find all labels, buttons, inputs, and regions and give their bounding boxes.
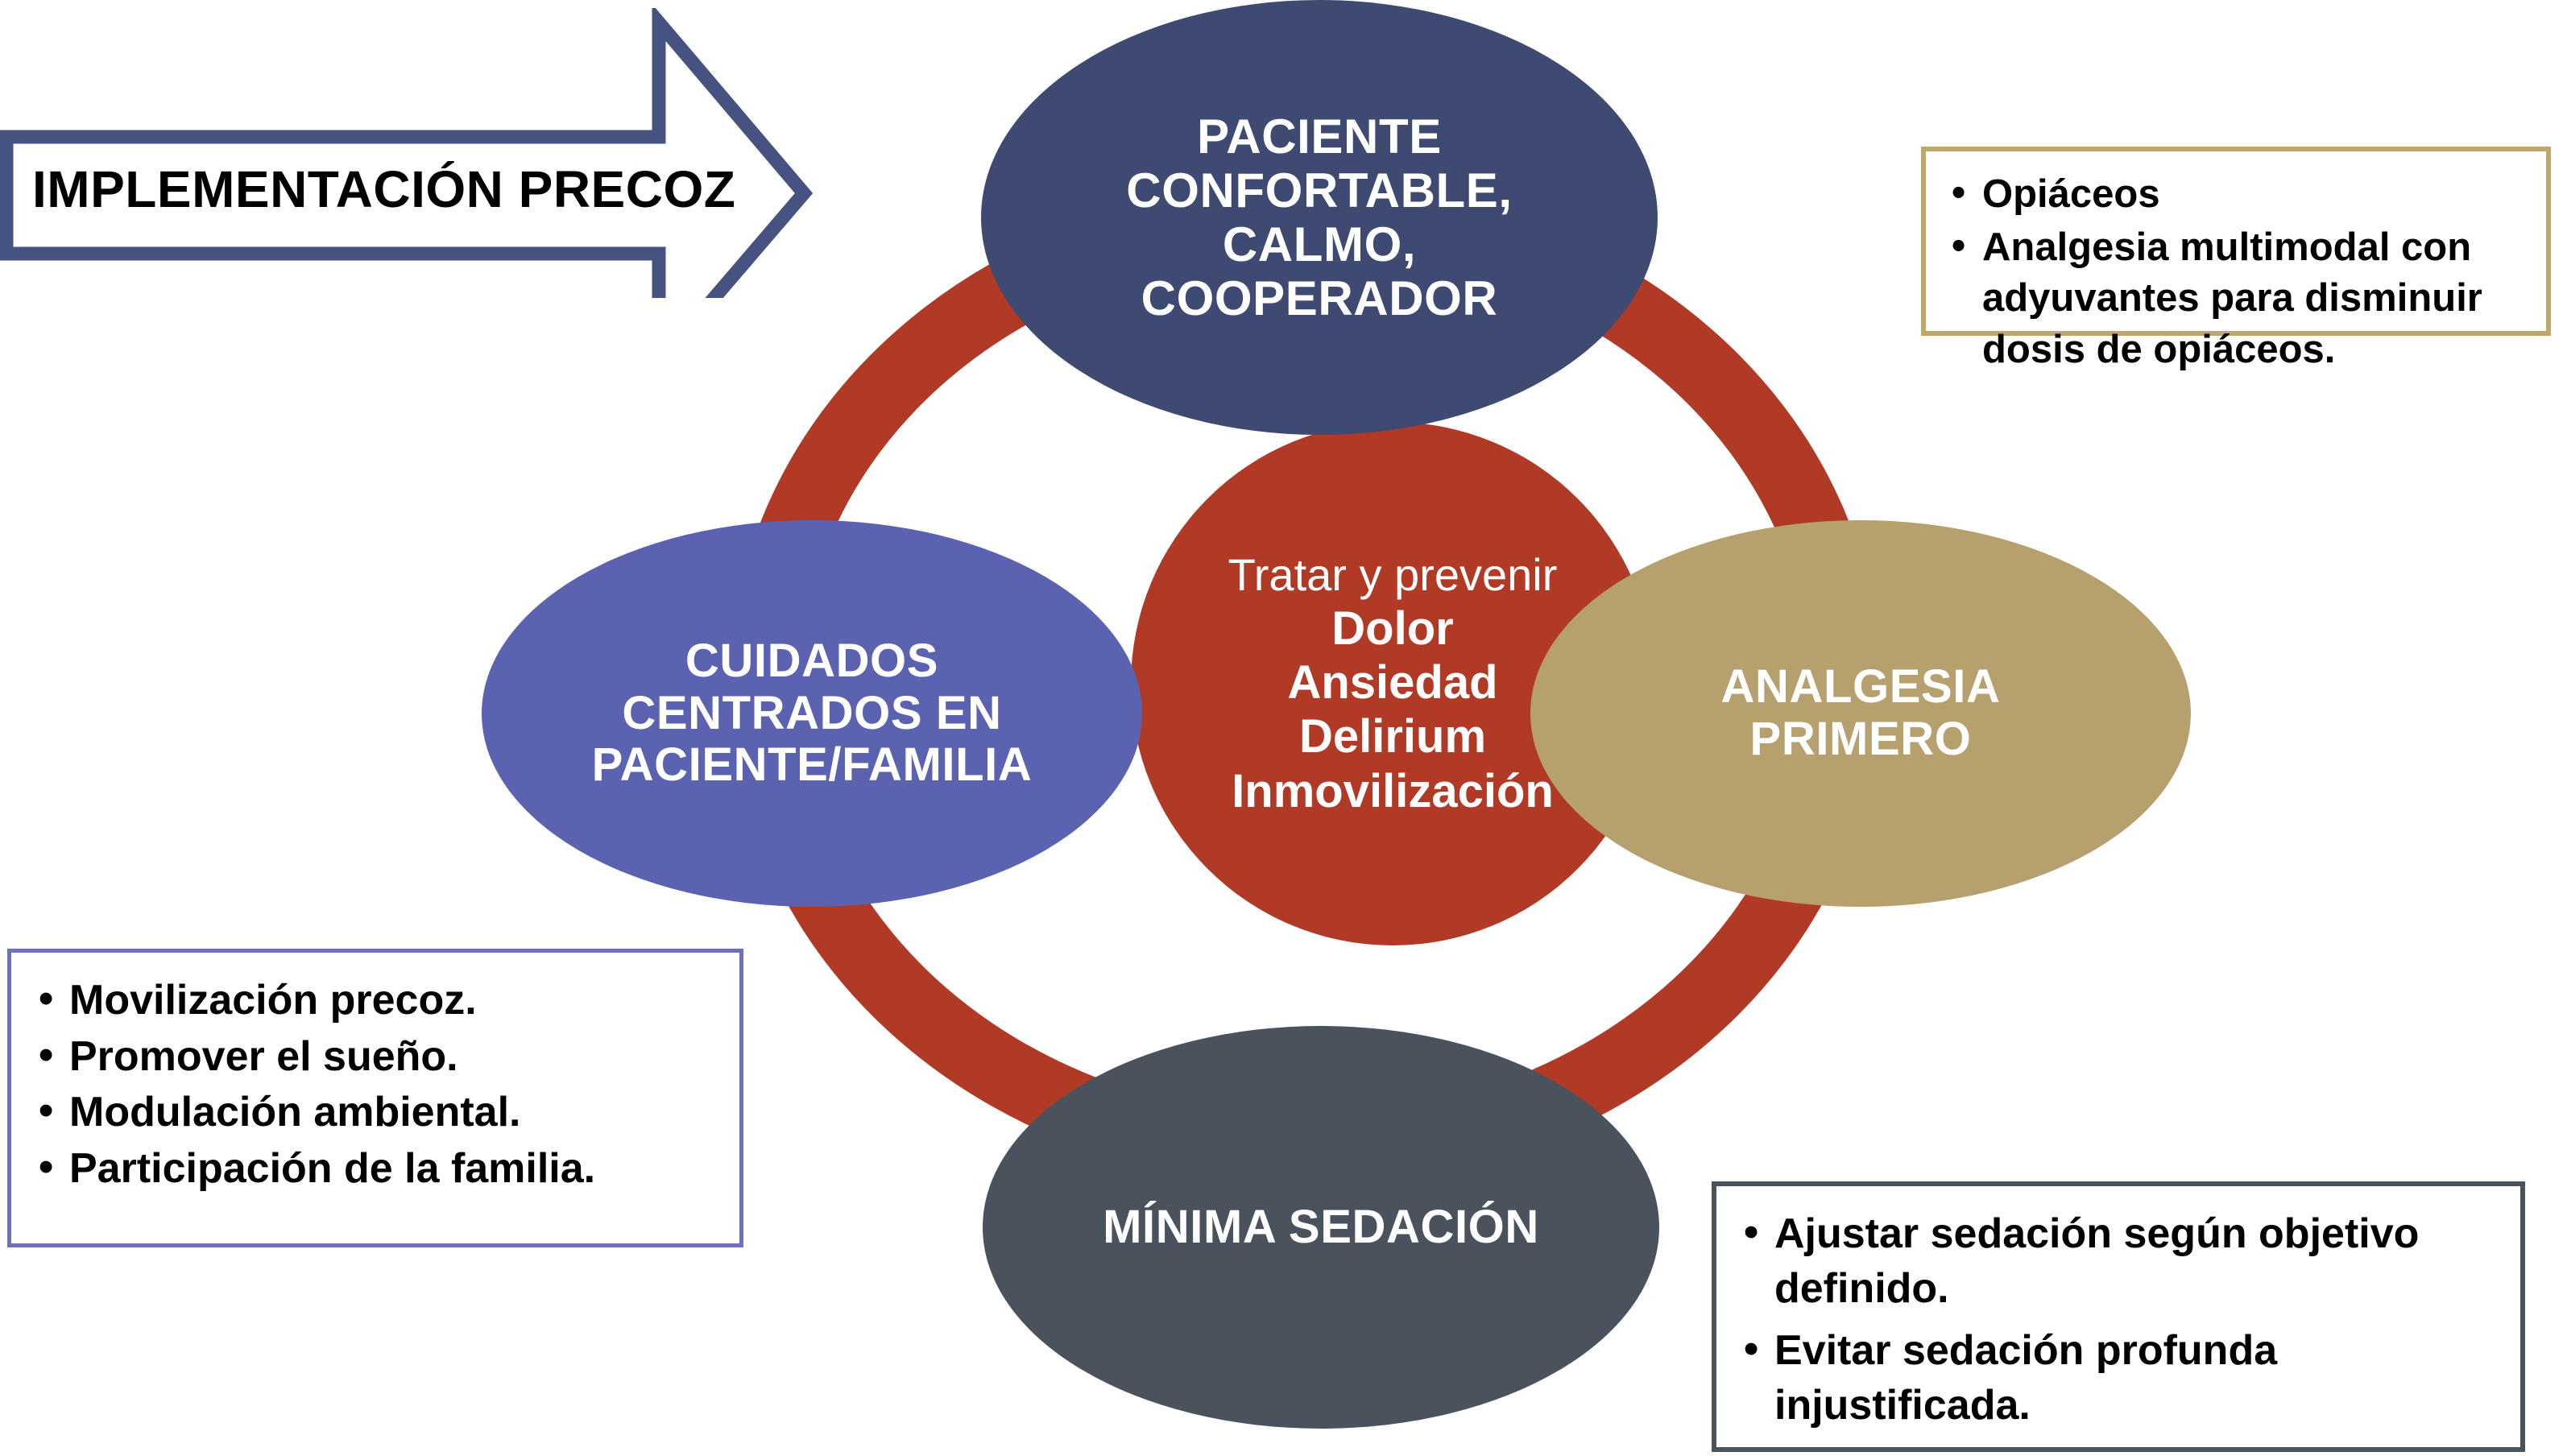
- center-lead-text: Tratar y prevenir: [1228, 549, 1558, 602]
- node-minima-sedacion: MÍNIMA SEDACIÓN: [983, 1026, 1659, 1429]
- node-left-label: CUIDADOS CENTRADOS EN PACIENTE/FAMILIA: [592, 635, 1033, 792]
- callout-sedacion: Ajustar sedación según objetivo definido…: [1712, 1181, 2525, 1452]
- callout-analgesia-list: Opiáceos Analgesia multimodal con adyuva…: [1948, 169, 2530, 376]
- center-item-ansiedad: Ansiedad: [1287, 656, 1497, 709]
- callout-analgesia: Opiáceos Analgesia multimodal con adyuva…: [1921, 147, 2551, 336]
- node-left-line-1: CUIDADOS: [592, 635, 1033, 688]
- node-cuidados-centrados: CUIDADOS CENTRADOS EN PACIENTE/FAMILIA: [482, 520, 1142, 907]
- list-item: Analgesia multimodal con adyuvantes para…: [1948, 222, 2530, 376]
- list-item: Modulación ambiental.: [35, 1086, 725, 1140]
- node-bottom-label: MÍNIMA SEDACIÓN: [1103, 1202, 1539, 1254]
- node-right-line-1: ANALGESIA: [1721, 661, 2001, 714]
- arrow-label: IMPLEMENTACIÓN PRECOZ: [32, 159, 628, 219]
- node-top-line-1: PACIENTE: [1126, 110, 1512, 163]
- center-item-delirium: Delirium: [1299, 709, 1486, 763]
- implementation-arrow: IMPLEMENTACIÓN PRECOZ: [0, 8, 814, 298]
- node-top-label: PACIENTE CONFORTABLE, CALMO, COOPERADOR: [1126, 110, 1512, 326]
- arrow-icon: [0, 8, 814, 298]
- node-top-line-3: CALMO,: [1126, 217, 1512, 271]
- callout-cuidados-list: Movilización precoz. Promover el sueño. …: [35, 974, 725, 1196]
- center-item-dolor: Dolor: [1331, 602, 1453, 656]
- node-right-label: ANALGESIA PRIMERO: [1721, 661, 2001, 766]
- diagram-canvas: IMPLEMENTACIÓN PRECOZ Tratar y prevenir …: [0, 0, 2567, 1456]
- list-item: Movilización precoz.: [35, 974, 725, 1028]
- list-item: Ajustar sedación según objetivo definido…: [1741, 1207, 2506, 1316]
- node-left-line-2: CENTRADOS EN: [592, 688, 1033, 740]
- list-item: Opiáceos: [1948, 169, 2530, 221]
- node-analgesia-primero: ANALGESIA PRIMERO: [1530, 520, 2191, 907]
- node-left-line-3: PACIENTE/FAMILIA: [592, 739, 1033, 792]
- list-item: Participación de la familia.: [35, 1142, 725, 1197]
- node-top-line-2: CONFORTABLE,: [1126, 163, 1512, 217]
- callout-sedacion-list: Ajustar sedación según objetivo definido…: [1741, 1207, 2506, 1433]
- node-top-line-4: COOPERADOR: [1126, 271, 1512, 325]
- list-item: Promover el sueño.: [35, 1030, 725, 1085]
- list-item: Evitar sedación profunda injustificada.: [1741, 1324, 2506, 1433]
- node-right-line-2: PRIMERO: [1721, 714, 2001, 766]
- callout-cuidados: Movilización precoz. Promover el sueño. …: [7, 949, 743, 1247]
- node-paciente-confortable: PACIENTE CONFORTABLE, CALMO, COOPERADOR: [981, 0, 1658, 435]
- center-item-inmovilizacion: Inmovilización: [1232, 764, 1554, 818]
